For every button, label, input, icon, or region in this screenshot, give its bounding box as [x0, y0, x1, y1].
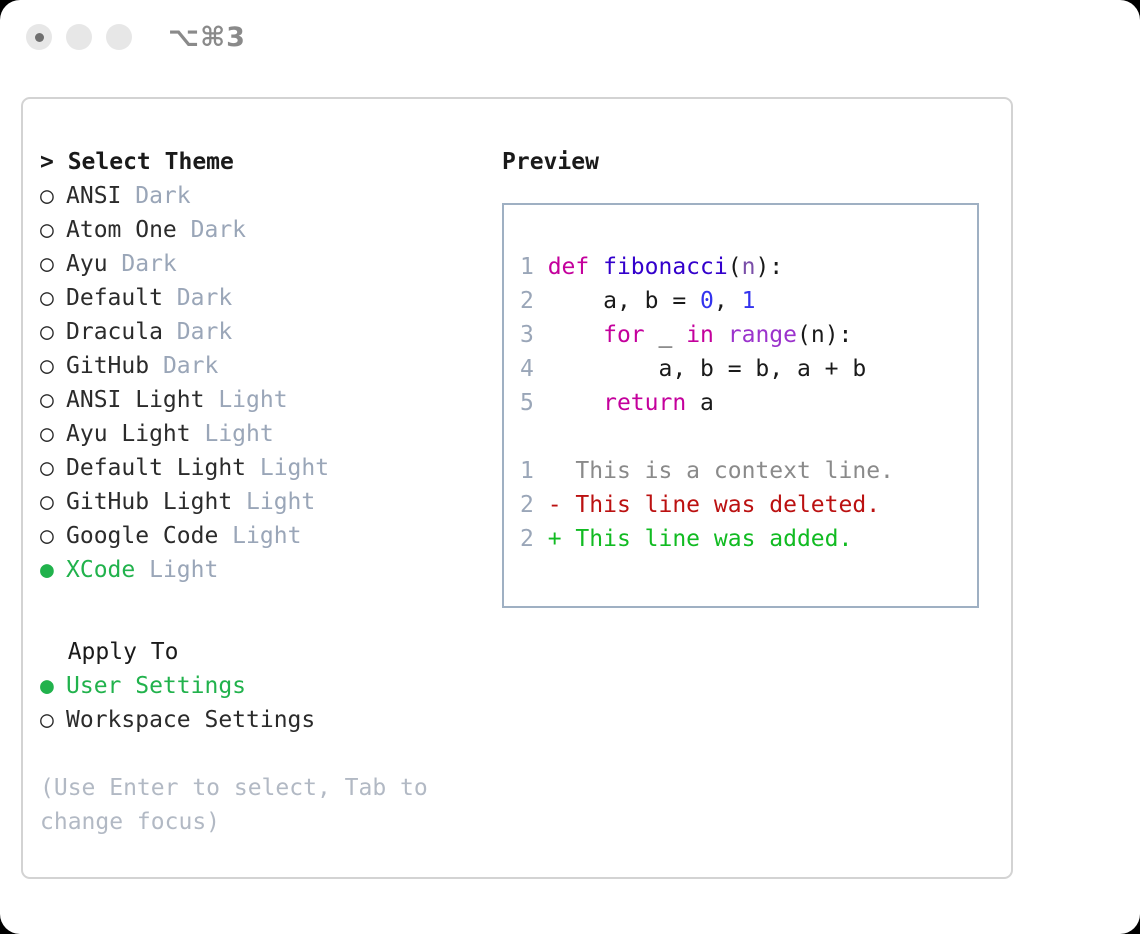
code-preview: 1 def fibonacci(n):2 a, b = 0, 13 for _ …: [520, 250, 894, 556]
diff-text: + This line was added.: [548, 526, 853, 552]
code-token: [548, 390, 603, 416]
theme-variant-tag: Dark: [149, 353, 218, 379]
radio-unselected-icon: ○: [40, 417, 66, 451]
theme-option[interactable]: ●XCode Light: [40, 553, 480, 587]
diff-line: 2 - This line was deleted.: [520, 488, 894, 522]
theme-name: Dracula: [66, 319, 163, 345]
diff-line: 2 + This line was added.: [520, 522, 894, 556]
code-token: fibonacci: [603, 254, 728, 280]
code-line: 4 a, b = b, a + b: [520, 352, 894, 386]
theme-variant-tag: Dark: [163, 319, 232, 345]
window-dot-active[interactable]: [26, 24, 52, 50]
radio-unselected-icon: ○: [40, 281, 66, 315]
code-token: a, b =: [548, 288, 700, 314]
diff-text: This is a context line.: [548, 458, 894, 484]
radio-unselected-icon: ○: [40, 247, 66, 281]
theme-variant-tag: Light: [135, 557, 218, 583]
theme-option[interactable]: ○Ayu Dark: [40, 247, 480, 281]
code-token: n: [742, 254, 756, 280]
theme-variant-tag: Dark: [121, 183, 190, 209]
theme-option[interactable]: ○Default Light Light: [40, 451, 480, 485]
code-token: a: [686, 390, 714, 416]
code-line: 1 def fibonacci(n):: [520, 250, 894, 284]
theme-option[interactable]: ○Default Dark: [40, 281, 480, 315]
theme-name: XCode: [66, 557, 135, 583]
theme-variant-tag: Dark: [108, 251, 177, 277]
theme-name: GitHub: [66, 353, 149, 379]
theme-name: Default Light: [66, 455, 246, 481]
code-token: (: [728, 254, 742, 280]
radio-selected-icon: ●: [40, 669, 66, 703]
line-number: 1: [520, 254, 548, 280]
code-token: 1: [742, 288, 756, 314]
code-token: return: [603, 390, 686, 416]
code-token: [548, 322, 603, 348]
theme-name: Default: [66, 285, 163, 311]
theme-name: GitHub Light: [66, 489, 232, 515]
line-number: 2: [520, 492, 548, 518]
theme-name: Atom One: [66, 217, 177, 243]
code-line: 3 for _ in range(n):: [520, 318, 894, 352]
theme-picker-panel: > Select Theme ○ANSI Dark○Atom One Dark○…: [21, 97, 1013, 879]
line-number: 2: [520, 526, 548, 552]
radio-unselected-icon: ○: [40, 349, 66, 383]
line-number: 1: [520, 458, 548, 484]
theme-variant-tag: Light: [232, 489, 315, 515]
apply-to-option[interactable]: ○Workspace Settings: [40, 703, 480, 737]
code-token: range: [728, 322, 797, 348]
code-token: a, b = b, a + b: [548, 356, 867, 382]
theme-option[interactable]: ○GitHub Light Light: [40, 485, 480, 519]
radio-unselected-icon: ○: [40, 519, 66, 553]
code-token: (n):: [797, 322, 852, 348]
theme-name: ANSI: [66, 183, 121, 209]
code-token: for: [603, 322, 645, 348]
diff-text: - This line was deleted.: [548, 492, 880, 518]
code-token: 0: [700, 288, 714, 314]
radio-unselected-icon: ○: [40, 703, 66, 737]
theme-list-column: > Select Theme ○ANSI Dark○Atom One Dark○…: [40, 145, 480, 839]
radio-selected-icon: ●: [40, 553, 66, 587]
theme-variant-tag: Light: [218, 523, 301, 549]
radio-unselected-icon: ○: [40, 451, 66, 485]
theme-option[interactable]: ○GitHub Dark: [40, 349, 480, 383]
line-number: 3: [520, 322, 548, 348]
keyboard-hint-text: (Use Enter to select, Tab to change focu…: [40, 771, 460, 839]
theme-variant-tag: Light: [191, 421, 274, 447]
theme-option[interactable]: ○ANSI Dark: [40, 179, 480, 213]
preview-column: Preview 1 def fibonacci(n):2 a, b = 0, 1…: [502, 145, 992, 608]
code-token: ,: [714, 288, 742, 314]
radio-unselected-icon: ○: [40, 179, 66, 213]
line-number: 2: [520, 288, 548, 314]
theme-list: ○ANSI Dark○Atom One Dark○Ayu Dark○Defaul…: [40, 179, 480, 587]
window-controls: [26, 24, 132, 50]
window-dot-third[interactable]: [106, 24, 132, 50]
apply-to-list: ●User Settings○Workspace Settings: [40, 669, 480, 737]
code-token: [714, 322, 728, 348]
terminal-window: ⌥⌘3 > Select Theme ○ANSI Dark○Atom One D…: [0, 0, 1140, 934]
radio-unselected-icon: ○: [40, 485, 66, 519]
preview-box: 1 def fibonacci(n):2 a, b = 0, 13 for _ …: [502, 203, 979, 608]
theme-option[interactable]: ○Dracula Dark: [40, 315, 480, 349]
theme-option[interactable]: ○ANSI Light Light: [40, 383, 480, 417]
line-number: 4: [520, 356, 548, 382]
theme-name: Ayu Light: [66, 421, 191, 447]
window-titlebar: ⌥⌘3: [0, 0, 1140, 78]
theme-variant-tag: Light: [246, 455, 329, 481]
apply-to-header: Apply To: [40, 635, 480, 669]
keyboard-shortcut-label: ⌥⌘3: [168, 22, 246, 53]
window-dot-second[interactable]: [66, 24, 92, 50]
radio-unselected-icon: ○: [40, 315, 66, 349]
theme-variant-tag: Dark: [163, 285, 232, 311]
window-dot-active-indicator: [35, 33, 44, 42]
code-blank-line: [520, 420, 894, 454]
theme-name: ANSI Light: [66, 387, 204, 413]
select-theme-header: > Select Theme: [40, 145, 480, 179]
theme-option[interactable]: ○Google Code Light: [40, 519, 480, 553]
apply-to-option[interactable]: ●User Settings: [40, 669, 480, 703]
code-token: def: [548, 254, 603, 280]
line-number: 5: [520, 390, 548, 416]
code-line: 5 return a: [520, 386, 894, 420]
preview-title: Preview: [502, 145, 992, 179]
code-token: _: [645, 322, 687, 348]
theme-name: Google Code: [66, 523, 218, 549]
apply-to-label: User Settings: [66, 673, 246, 699]
theme-variant-tag: Light: [204, 387, 287, 413]
radio-unselected-icon: ○: [40, 383, 66, 417]
theme-option[interactable]: ○Atom One Dark: [40, 213, 480, 247]
radio-unselected-icon: ○: [40, 213, 66, 247]
apply-to-label: Workspace Settings: [66, 707, 315, 733]
theme-variant-tag: Dark: [177, 217, 246, 243]
code-token: in: [686, 322, 714, 348]
theme-option[interactable]: ○Ayu Light Light: [40, 417, 480, 451]
diff-line: 1 This is a context line.: [520, 454, 894, 488]
code-token: ):: [755, 254, 783, 280]
code-line: 2 a, b = 0, 1: [520, 284, 894, 318]
theme-name: Ayu: [66, 251, 108, 277]
